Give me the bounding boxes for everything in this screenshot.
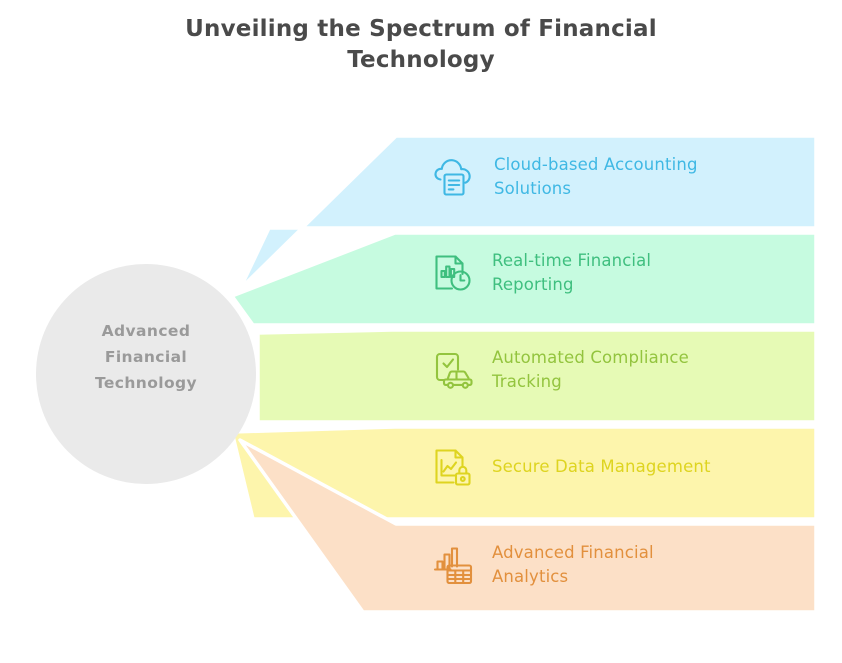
infographic-canvas: Unveiling the Spectrum of Financial Tech… — [0, 0, 842, 663]
band-row-automated-compliance-tracking[interactable]: Automated Compliance Tracking — [430, 346, 689, 394]
band-row-cloud-based-accounting[interactable]: Cloud-based Accounting Solutions — [432, 153, 698, 201]
band-label-automated-compliance-tracking: Automated Compliance Tracking — [492, 346, 689, 394]
band-row-advanced-financial-analytics[interactable]: Advanced Financial Analytics — [430, 541, 654, 589]
band-label-secure-data-management: Secure Data Management — [492, 455, 711, 479]
band-row-secure-data-management[interactable]: Secure Data Management — [430, 444, 711, 490]
checklist-car-icon — [430, 347, 476, 393]
band-row-real-time-financial-reporting[interactable]: Real-time Financial Reporting — [430, 249, 651, 297]
hub-label: Advanced Financial Technology — [36, 318, 256, 396]
band-label-advanced-financial-analytics: Advanced Financial Analytics — [492, 541, 654, 589]
hub-label-line-2: Financial — [36, 344, 256, 370]
bar-chart-table-icon — [430, 542, 476, 588]
band-label-real-time-financial-reporting: Real-time Financial Reporting — [492, 249, 651, 297]
band-label-cloud-based-accounting: Cloud-based Accounting Solutions — [494, 153, 698, 201]
hub-label-line-3: Technology — [36, 370, 256, 396]
document-chart-clock-icon — [430, 250, 476, 296]
cloud-document-icon — [432, 154, 478, 200]
hub-label-line-1: Advanced — [36, 318, 256, 344]
document-chart-lock-icon — [430, 444, 476, 490]
